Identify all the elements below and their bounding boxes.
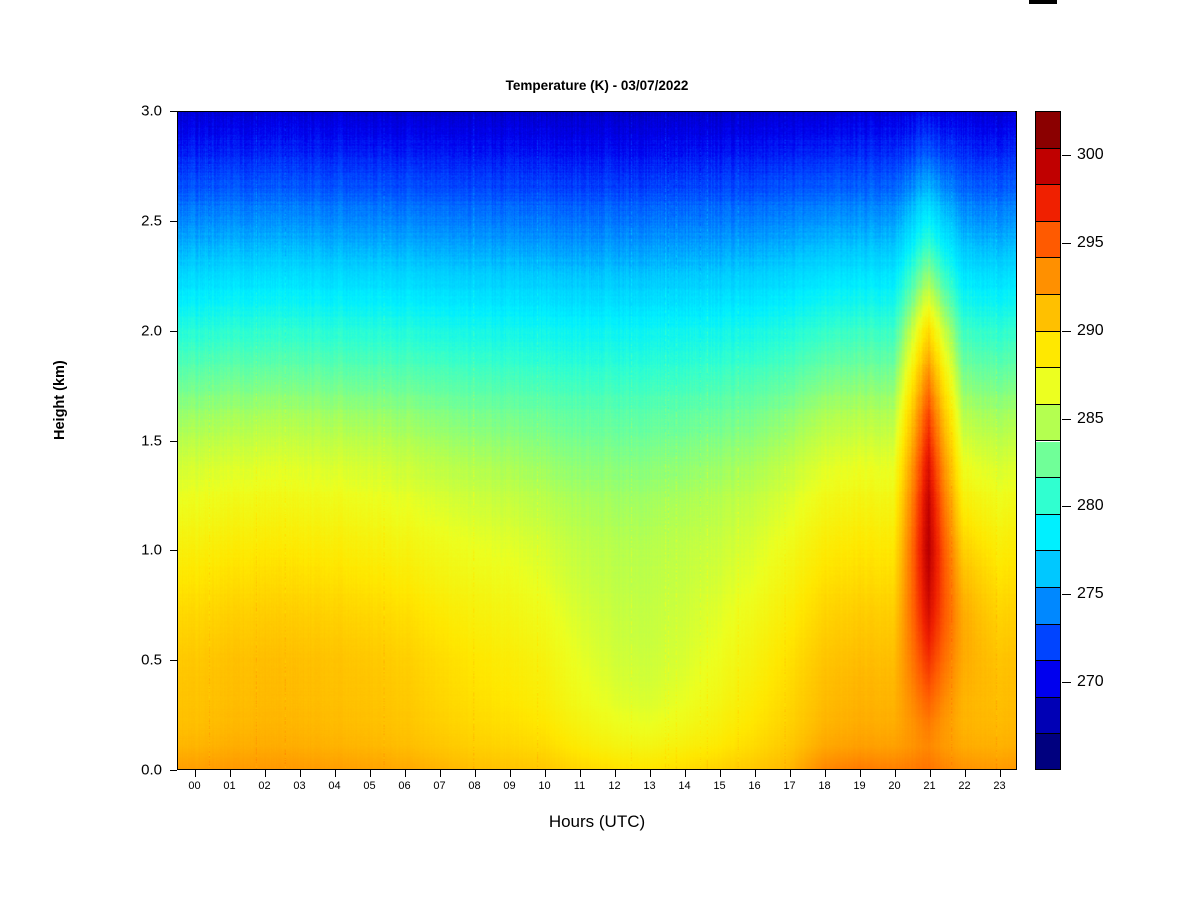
page-title: Temperature (K) - 03/07/2022 bbox=[177, 78, 1017, 93]
x-tick-label: 09 bbox=[495, 780, 525, 792]
y-tick-mark bbox=[170, 221, 177, 222]
x-tick-label: 10 bbox=[530, 780, 560, 792]
y-tick-mark bbox=[170, 111, 177, 112]
x-tick-mark bbox=[510, 770, 511, 777]
y-tick-label: 2.5 bbox=[114, 212, 162, 229]
temperature-heatmap bbox=[178, 112, 1016, 769]
x-tick-mark bbox=[230, 770, 231, 777]
y-tick-label: 2.0 bbox=[114, 322, 162, 339]
y-tick-mark bbox=[170, 441, 177, 442]
x-tick-mark bbox=[440, 770, 441, 777]
y-tick-mark bbox=[170, 550, 177, 551]
x-tick-label: 08 bbox=[460, 780, 490, 792]
x-tick-label: 11 bbox=[565, 780, 595, 792]
colorbar-band bbox=[1036, 332, 1060, 369]
x-tick-mark bbox=[195, 770, 196, 777]
colorbar-band bbox=[1036, 295, 1060, 332]
x-tick-mark bbox=[650, 770, 651, 777]
x-tick-label: 05 bbox=[355, 780, 385, 792]
x-tick-label: 00 bbox=[180, 780, 210, 792]
x-tick-mark bbox=[265, 770, 266, 777]
x-tick-mark bbox=[825, 770, 826, 777]
colorbar-band bbox=[1036, 185, 1060, 222]
colorbar-tick-label: 285 bbox=[1077, 410, 1104, 428]
colorbar-band bbox=[1036, 551, 1060, 588]
colorbar-band bbox=[1036, 625, 1060, 662]
colorbar-tick-mark bbox=[1062, 594, 1071, 595]
colorbar-tick-label: 280 bbox=[1077, 497, 1104, 515]
x-tick-label: 04 bbox=[320, 780, 350, 792]
colorbar-gradient bbox=[1035, 111, 1061, 770]
x-tick-label: 07 bbox=[425, 780, 455, 792]
colorbar-band bbox=[1036, 222, 1060, 259]
y-tick-mark bbox=[170, 770, 177, 771]
colorbar-tick-mark bbox=[1062, 243, 1071, 244]
colorbar-tick-mark bbox=[1062, 155, 1071, 156]
colorbar-band bbox=[1036, 149, 1060, 186]
figure-canvas: Temperature (K) - 03/07/2022 0.00.51.01.… bbox=[0, 0, 1200, 900]
x-tick-mark bbox=[860, 770, 861, 777]
x-tick-label: 15 bbox=[705, 780, 735, 792]
colorbar-band bbox=[1036, 478, 1060, 515]
colorbar-band bbox=[1036, 734, 1060, 770]
colorbar-band bbox=[1036, 112, 1060, 149]
x-tick-label: 17 bbox=[775, 780, 805, 792]
x-tick-label: 02 bbox=[250, 780, 280, 792]
y-tick-label: 0.0 bbox=[114, 762, 162, 779]
x-axis-title: Hours (UTC) bbox=[177, 812, 1017, 832]
x-tick-mark bbox=[370, 770, 371, 777]
top-edge-artifact bbox=[1029, 0, 1057, 4]
colorbar-band bbox=[1036, 368, 1060, 405]
x-tick-label: 18 bbox=[810, 780, 840, 792]
x-tick-label: 16 bbox=[740, 780, 770, 792]
x-tick-mark bbox=[300, 770, 301, 777]
colorbar-tick-mark bbox=[1062, 419, 1071, 420]
x-tick-mark bbox=[790, 770, 791, 777]
x-tick-mark bbox=[685, 770, 686, 777]
x-tick-mark bbox=[335, 770, 336, 777]
x-tick-label: 14 bbox=[670, 780, 700, 792]
y-tick-label: 1.0 bbox=[114, 542, 162, 559]
colorbar-tick-mark bbox=[1062, 682, 1071, 683]
y-axis-title: Height (km) bbox=[52, 240, 68, 440]
heatmap-plot-area bbox=[177, 111, 1017, 770]
colorbar-tick-label: 295 bbox=[1077, 234, 1104, 252]
x-tick-label: 20 bbox=[880, 780, 910, 792]
x-tick-label: 23 bbox=[985, 780, 1015, 792]
y-tick-label: 1.5 bbox=[114, 432, 162, 449]
y-tick-label: 0.5 bbox=[114, 652, 162, 669]
y-tick-mark bbox=[170, 660, 177, 661]
x-tick-mark bbox=[720, 770, 721, 777]
x-tick-mark bbox=[930, 770, 931, 777]
y-tick-label: 3.0 bbox=[114, 103, 162, 120]
colorbar-legend: 270275280285290295300 bbox=[1035, 111, 1061, 770]
colorbar-tick-mark bbox=[1062, 331, 1071, 332]
x-tick-mark bbox=[545, 770, 546, 777]
colorbar-band bbox=[1036, 588, 1060, 625]
x-tick-label: 21 bbox=[915, 780, 945, 792]
colorbar-band bbox=[1036, 405, 1060, 442]
x-tick-mark bbox=[475, 770, 476, 777]
colorbar-tick-label: 300 bbox=[1077, 146, 1104, 164]
x-tick-mark bbox=[615, 770, 616, 777]
colorbar-tick-label: 270 bbox=[1077, 673, 1104, 691]
x-tick-mark bbox=[755, 770, 756, 777]
x-tick-label: 22 bbox=[950, 780, 980, 792]
colorbar-band bbox=[1036, 515, 1060, 552]
x-tick-label: 13 bbox=[635, 780, 665, 792]
y-tick-mark bbox=[170, 331, 177, 332]
colorbar-tick-label: 290 bbox=[1077, 322, 1104, 340]
x-tick-label: 06 bbox=[390, 780, 420, 792]
x-tick-label: 01 bbox=[215, 780, 245, 792]
x-tick-label: 03 bbox=[285, 780, 315, 792]
x-tick-label: 19 bbox=[845, 780, 875, 792]
x-tick-mark bbox=[405, 770, 406, 777]
x-tick-mark bbox=[895, 770, 896, 777]
colorbar-tick-mark bbox=[1062, 506, 1071, 507]
x-tick-label: 12 bbox=[600, 780, 630, 792]
colorbar-band bbox=[1036, 258, 1060, 295]
colorbar-tick-label: 275 bbox=[1077, 585, 1104, 603]
colorbar-band bbox=[1036, 698, 1060, 735]
colorbar-band bbox=[1036, 661, 1060, 698]
x-tick-mark bbox=[580, 770, 581, 777]
x-tick-mark bbox=[965, 770, 966, 777]
colorbar-band bbox=[1036, 442, 1060, 479]
x-tick-mark bbox=[1000, 770, 1001, 777]
